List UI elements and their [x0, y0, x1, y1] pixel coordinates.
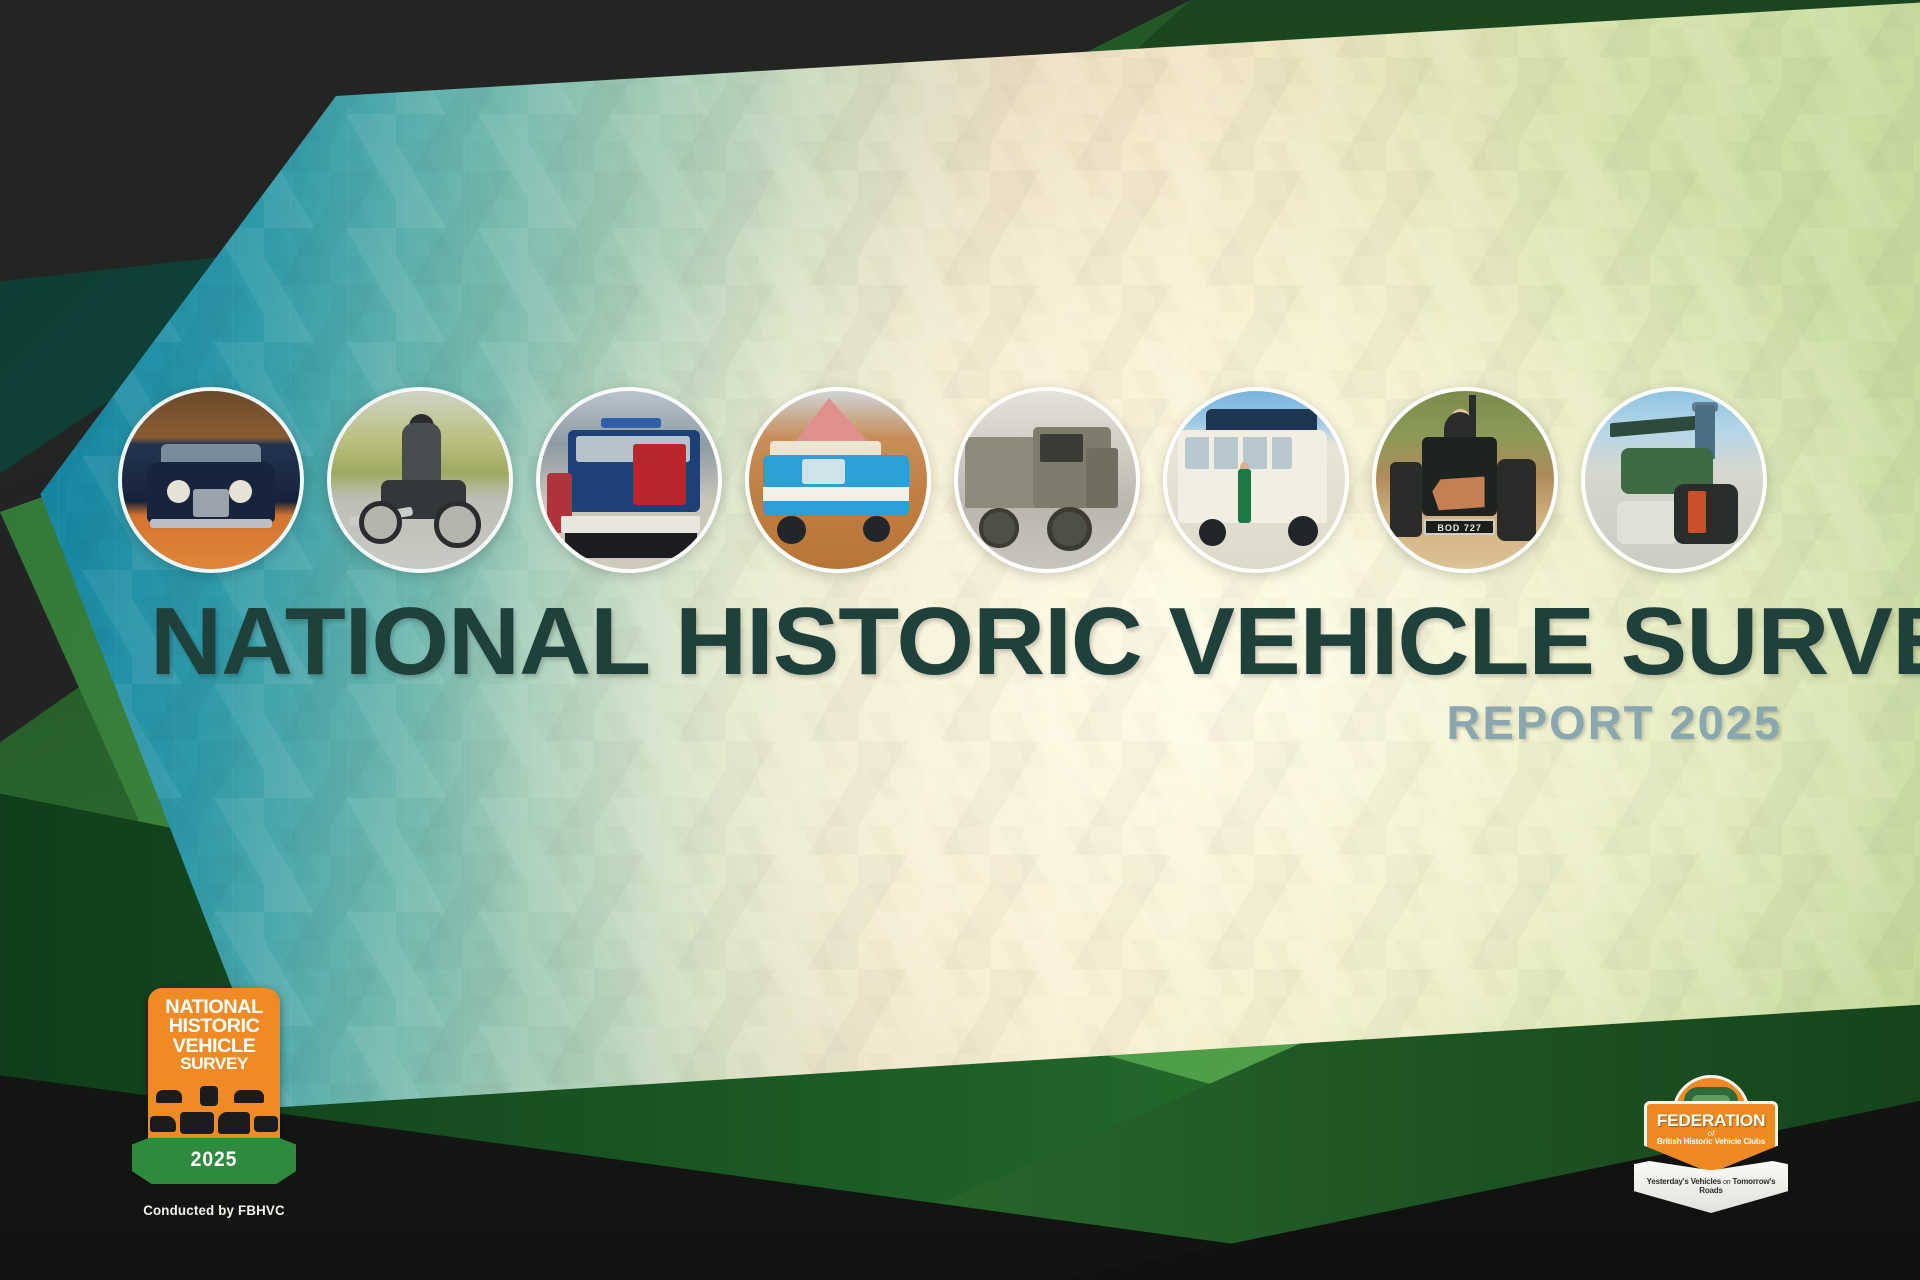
vehicle-circle-fire-engine	[536, 387, 722, 573]
survey-logo-caption: Conducted by FBHVC	[142, 1202, 286, 1218]
federation-logo-subtitle: British Historic Vehicle Clubs	[1646, 1137, 1776, 1146]
federation-tagline-part1: Yesterday's Vehicles	[1647, 1177, 1721, 1186]
title-block: NATIONAL HISTORIC VEHICLE SURVEY REPORT …	[150, 595, 1790, 750]
survey-logo-badge: NATIONAL HISTORIC VEHICLE SURVEY 2025	[148, 988, 280, 1168]
vehicle-circle-camper-van	[745, 387, 931, 573]
page-subtitle: REPORT 2025	[150, 695, 1790, 750]
federation-logo-name: FEDERATION	[1645, 1111, 1778, 1131]
survey-logo-line-3: VEHICLE	[151, 1037, 277, 1056]
federation-tagline-connector: on	[1723, 1179, 1730, 1186]
vehicle-circle-military-truck	[954, 387, 1140, 573]
survey-logo-year-ribbon: 2025	[132, 1138, 296, 1184]
federation-logo: FEDERATION of British Historic Vehicle C…	[1636, 1073, 1786, 1223]
vehicle-circle-vintage-coach-bus	[1163, 387, 1349, 573]
page-title: NATIONAL HISTORIC VEHICLE SURVEY	[150, 595, 1856, 689]
vehicle-circle-steam-traction-engine	[1581, 387, 1767, 573]
survey-logo-line-4: SURVEY	[151, 1056, 277, 1073]
survey-logo-year: 2025	[139, 1138, 290, 1182]
survey-logo-line-1: NATIONAL	[151, 998, 277, 1017]
federation-logo-tagline: Yesterday's Vehicles on Tomorrow's Roads	[1634, 1177, 1788, 1195]
vehicle-circle-vintage-tractor: BOD 727	[1372, 387, 1558, 573]
vehicle-circle-classic-sports-car	[118, 387, 304, 573]
survey-logo: NATIONAL HISTORIC VEHICLE SURVEY 2025 Co…	[148, 988, 280, 1168]
report-cover: BOD 727 NATIONAL HISTORIC VEHICLE SURVEY…	[0, 0, 1920, 1280]
vehicle-photo-row: BOD 727	[118, 385, 1818, 575]
vehicle-circle-vintage-motorcycle	[327, 387, 513, 573]
tractor-number-plate: BOD 727	[1424, 519, 1495, 535]
survey-logo-line-2: HISTORIC	[151, 1017, 277, 1036]
